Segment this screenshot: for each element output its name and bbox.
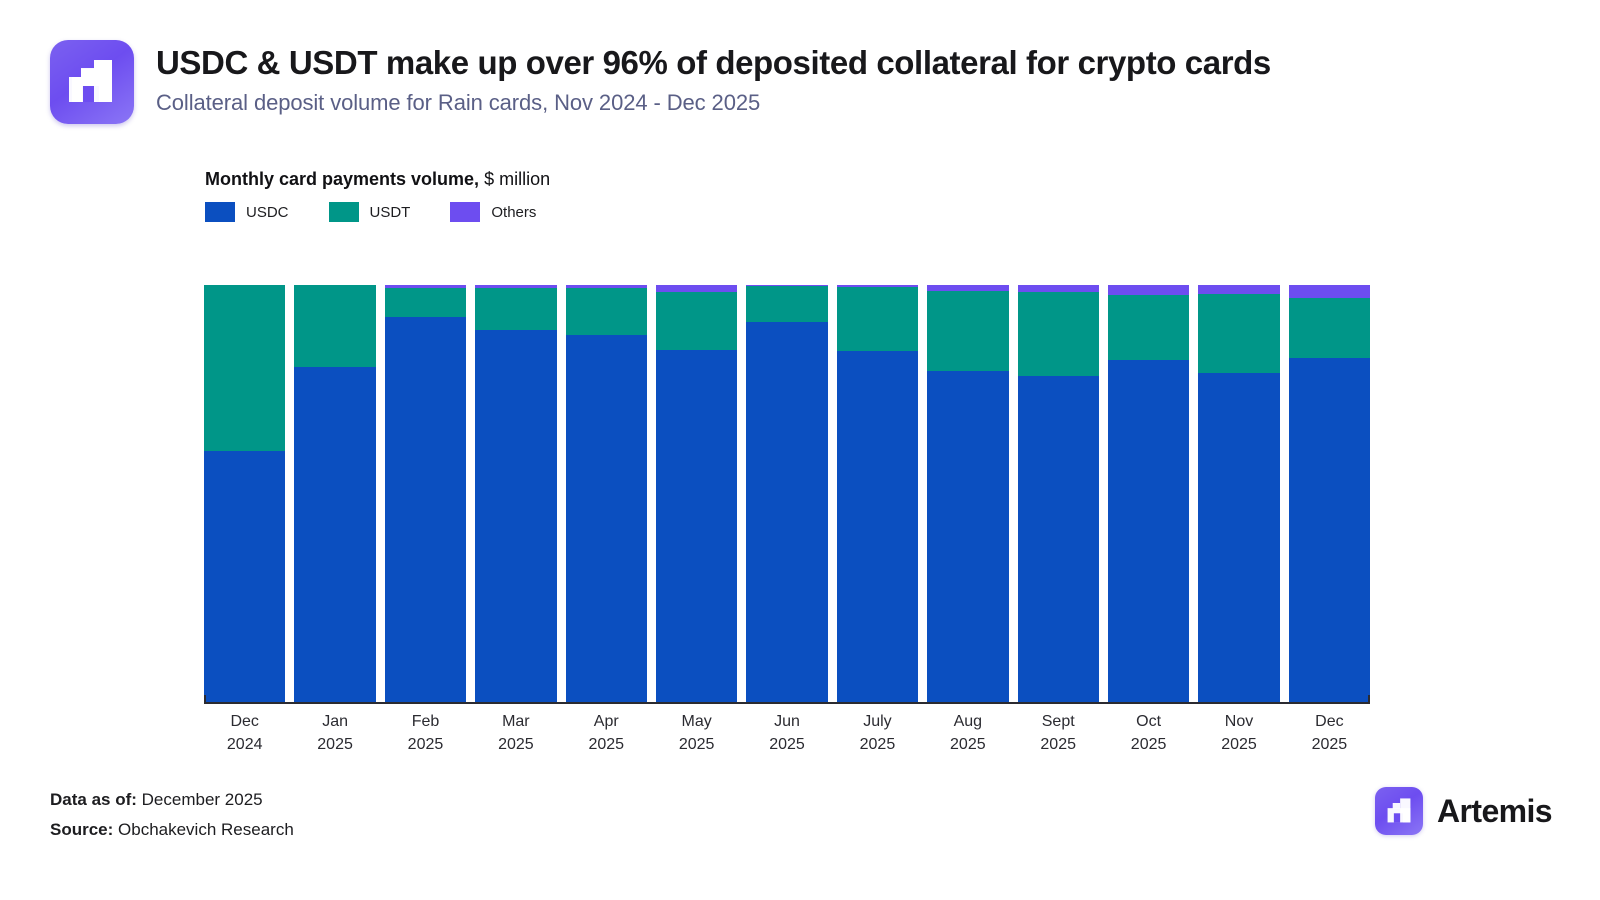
x-axis-label-month: Jan (322, 713, 348, 730)
bar-segment-others[interactable] (656, 285, 737, 292)
legend-item-usdt[interactable]: USDT (329, 202, 411, 222)
bar-segment-usdt[interactable] (294, 285, 375, 367)
x-axis-label: Apr2025 (566, 710, 647, 756)
chart-page: USDC & USDT make up over 96% of deposite… (0, 0, 1600, 900)
x-axis-line (204, 702, 1370, 704)
bar-column[interactable] (837, 285, 918, 702)
bar-segment-usdt[interactable] (204, 285, 285, 451)
bar-segment-usdc[interactable] (656, 350, 737, 702)
bar-column[interactable] (566, 285, 647, 702)
x-axis-cap-right (1368, 695, 1370, 704)
bar-segment-usdc[interactable] (204, 451, 285, 702)
legend-swatch-usdc (205, 202, 235, 222)
page-title: USDC & USDT make up over 96% of deposite… (156, 44, 1271, 83)
legend-label-usdt: USDT (370, 204, 411, 221)
bar-segment-usdt[interactable] (385, 288, 466, 317)
x-axis-label-year: 2025 (746, 733, 827, 756)
bar-segment-usdt[interactable] (566, 288, 647, 335)
x-axis-label-year: 2025 (1018, 733, 1099, 756)
x-axis-label-month: Sept (1042, 713, 1075, 730)
x-axis-label: July2025 (837, 710, 918, 756)
source-line: Source: Obchakevich Research (50, 815, 294, 845)
x-axis-label: Oct2025 (1108, 710, 1189, 756)
legend-swatch-usdt (329, 202, 359, 222)
x-axis-label-month: July (863, 713, 891, 730)
chart-plot-area (204, 285, 1370, 702)
bar-column[interactable] (656, 285, 737, 702)
artemis-logo-icon (1375, 787, 1423, 835)
x-axis-label-year: 2025 (294, 733, 375, 756)
bar-segment-usdt[interactable] (656, 292, 737, 350)
x-axis-label-year: 2025 (927, 733, 1008, 756)
bar-column[interactable] (475, 285, 556, 702)
x-axis-label: Feb2025 (385, 710, 466, 756)
x-axis-label-month: Jun (774, 713, 800, 730)
bar-column[interactable] (927, 285, 1008, 702)
x-axis-label-month: Nov (1225, 713, 1253, 730)
bar-segment-others[interactable] (1289, 285, 1370, 298)
x-axis-labels: Dec2024Jan2025Feb2025Mar2025Apr2025May20… (204, 710, 1370, 756)
bar-segment-usdc[interactable] (475, 330, 556, 702)
bar-segment-usdc[interactable] (927, 371, 1008, 702)
x-axis-label-month: May (682, 713, 712, 730)
bar-column[interactable] (204, 285, 285, 702)
bar-segment-usdc[interactable] (294, 367, 375, 702)
chart-legend: Monthly card payments volume, $ million … (205, 168, 550, 222)
source-value: Obchakevich Research (113, 820, 293, 839)
bar-segment-others[interactable] (1108, 285, 1189, 295)
bar-segment-usdc[interactable] (746, 322, 827, 702)
bar-column[interactable] (1108, 285, 1189, 702)
bar-segment-others[interactable] (1018, 285, 1099, 292)
x-axis-label: Jun2025 (746, 710, 827, 756)
bar-segment-usdc[interactable] (1018, 376, 1099, 702)
x-axis-label: Nov2025 (1198, 710, 1279, 756)
legend-heading-bold: Monthly card payments volume, (205, 169, 479, 189)
x-axis-label-month: Dec (230, 713, 258, 730)
artemis-logo-icon (50, 40, 134, 124)
bar-segment-usdt[interactable] (927, 291, 1008, 371)
x-axis-label-year: 2025 (1198, 733, 1279, 756)
data-as-of-line: Data as of: December 2025 (50, 785, 294, 815)
bar-segment-usdc[interactable] (385, 317, 466, 702)
bar-segment-usdt[interactable] (1198, 294, 1279, 373)
legend-heading-regular: $ million (479, 169, 550, 189)
page-subtitle: Collateral deposit volume for Rain cards… (156, 90, 1271, 116)
artemis-brand: Artemis (1375, 787, 1552, 835)
x-axis-cap-left (204, 695, 206, 704)
x-axis-label-month: Aug (954, 713, 982, 730)
source-label: Source: (50, 820, 113, 839)
x-axis-label-year: 2025 (837, 733, 918, 756)
data-as-of-value: December 2025 (137, 790, 263, 809)
legend-label-others: Others (491, 204, 536, 221)
x-axis-label-year: 2025 (385, 733, 466, 756)
x-axis-label-year: 2025 (475, 733, 556, 756)
x-axis-label: Jan2025 (294, 710, 375, 756)
legend-item-usdc[interactable]: USDC (205, 202, 289, 222)
x-axis-label: Dec2025 (1289, 710, 1370, 756)
x-axis-label-month: Apr (594, 713, 619, 730)
legend-heading: Monthly card payments volume, $ million (205, 168, 550, 191)
bar-column[interactable] (385, 285, 466, 702)
bar-segment-others[interactable] (1198, 285, 1279, 294)
chart-header: USDC & USDT make up over 96% of deposite… (50, 40, 1271, 124)
legend-label-usdc: USDC (246, 204, 289, 221)
x-axis-label-month: Oct (1136, 713, 1161, 730)
bar-segment-usdc[interactable] (1198, 373, 1279, 702)
bar-group (204, 285, 1370, 702)
x-axis-label-month: Mar (502, 713, 530, 730)
bar-segment-usdc[interactable] (1108, 360, 1189, 702)
x-axis-label-year: 2025 (566, 733, 647, 756)
bar-segment-usdt[interactable] (1018, 292, 1099, 376)
x-axis-label: Mar2025 (475, 710, 556, 756)
x-axis-label-year: 2025 (656, 733, 737, 756)
bar-column[interactable] (1018, 285, 1099, 702)
artemis-wordmark: Artemis (1437, 793, 1552, 830)
x-axis-label: May2025 (656, 710, 737, 756)
bar-column[interactable] (746, 285, 827, 702)
bar-column[interactable] (294, 285, 375, 702)
bar-segment-usdc[interactable] (837, 351, 918, 702)
x-axis-label: Dec2024 (204, 710, 285, 756)
data-as-of-label: Data as of: (50, 790, 137, 809)
bar-segment-usdt[interactable] (837, 287, 918, 351)
bar-segment-usdt[interactable] (1108, 295, 1189, 360)
legend-items: USDC USDT Others (205, 202, 550, 222)
x-axis-label-month: Dec (1315, 713, 1343, 730)
bar-segment-usdt[interactable] (1289, 298, 1370, 358)
x-axis-label: Sept2025 (1018, 710, 1099, 756)
legend-swatch-others (450, 202, 480, 222)
bar-segment-usdc[interactable] (566, 335, 647, 702)
x-axis-label-month: Feb (412, 713, 440, 730)
x-axis-label-year: 2024 (204, 733, 285, 756)
chart-footer: Data as of: December 2025 Source: Obchak… (50, 785, 294, 845)
bar-segment-usdt[interactable] (475, 288, 556, 331)
legend-item-others[interactable]: Others (450, 202, 536, 222)
x-axis-label: Aug2025 (927, 710, 1008, 756)
x-axis-label-year: 2025 (1108, 733, 1189, 756)
bar-segment-usdc[interactable] (1289, 358, 1370, 702)
bar-segment-usdt[interactable] (746, 286, 827, 322)
x-axis-label-year: 2025 (1289, 733, 1370, 756)
bar-column[interactable] (1289, 285, 1370, 702)
bar-column[interactable] (1198, 285, 1279, 702)
